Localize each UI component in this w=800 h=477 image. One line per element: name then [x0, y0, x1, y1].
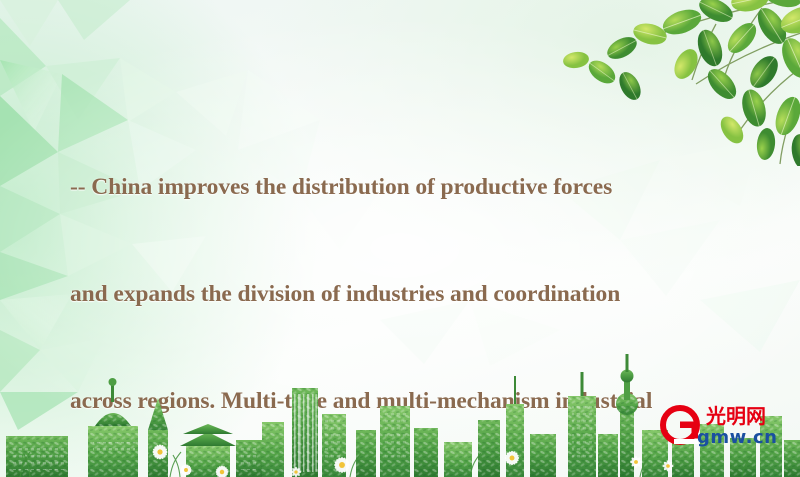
gmw-domain-text: gmw.cn: [697, 427, 777, 448]
headline-line: and expands the division of industries a…: [70, 277, 742, 313]
gmw-logo[interactable]: 光明网 gmw.cn: [660, 401, 788, 449]
gmw-chinese-text: 光明网: [705, 404, 766, 428]
gmw-g-mark-icon: [663, 408, 698, 444]
poster-canvas: -- China improves the distribution of pr…: [0, 0, 800, 477]
headline-line: -- China improves the distribution of pr…: [70, 170, 742, 206]
